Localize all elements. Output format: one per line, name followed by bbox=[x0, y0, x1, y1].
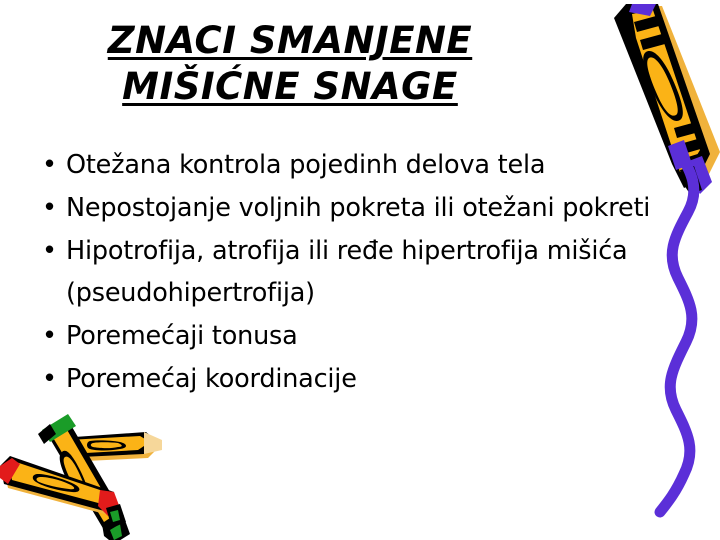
bullet-dot-icon: • bbox=[42, 358, 57, 400]
page-title: ZNACI SMANJENE MIŠIĆNE SNAGE bbox=[0, 22, 580, 105]
list-item-label: Hipotrofija, atrofija ili ređe hipertrof… bbox=[66, 230, 676, 314]
list-item: • Otežana kontrola pojedinh delova tela bbox=[36, 144, 676, 186]
bullet-dot-icon: • bbox=[42, 230, 57, 272]
bullet-dot-icon: • bbox=[42, 315, 57, 357]
list-item-label: Poremećaji tonusa bbox=[66, 315, 676, 357]
list-item-label: Otežana kontrola pojedinh delova tela bbox=[66, 144, 676, 186]
title-line-2: MIŠIĆNE SNAGE bbox=[122, 68, 458, 105]
slide-canvas: ZNACI SMANJENE MIŠIĆNE SNAGE • Otežana k… bbox=[0, 0, 720, 540]
list-item: • Nepostojanje voljnih pokreta ili oteža… bbox=[36, 187, 676, 229]
list-item-label: Poremećaj koordinacije bbox=[66, 358, 676, 400]
list-item: • Poremećaji tonusa bbox=[36, 315, 676, 357]
title-line-1: ZNACI SMANJENE bbox=[108, 22, 472, 59]
list-item: • Hipotrofija, atrofija ili ređe hipertr… bbox=[36, 230, 676, 314]
crayons-icon bbox=[0, 412, 184, 540]
bullet-dot-icon: • bbox=[42, 144, 57, 186]
bullet-dot-icon: • bbox=[42, 187, 57, 229]
list-item: • Poremećaj koordinacije bbox=[36, 358, 676, 400]
list-item-label: Nepostojanje voljnih pokreta ili otežani… bbox=[66, 187, 676, 229]
bullet-list: • Otežana kontrola pojedinh delova tela … bbox=[36, 144, 676, 401]
